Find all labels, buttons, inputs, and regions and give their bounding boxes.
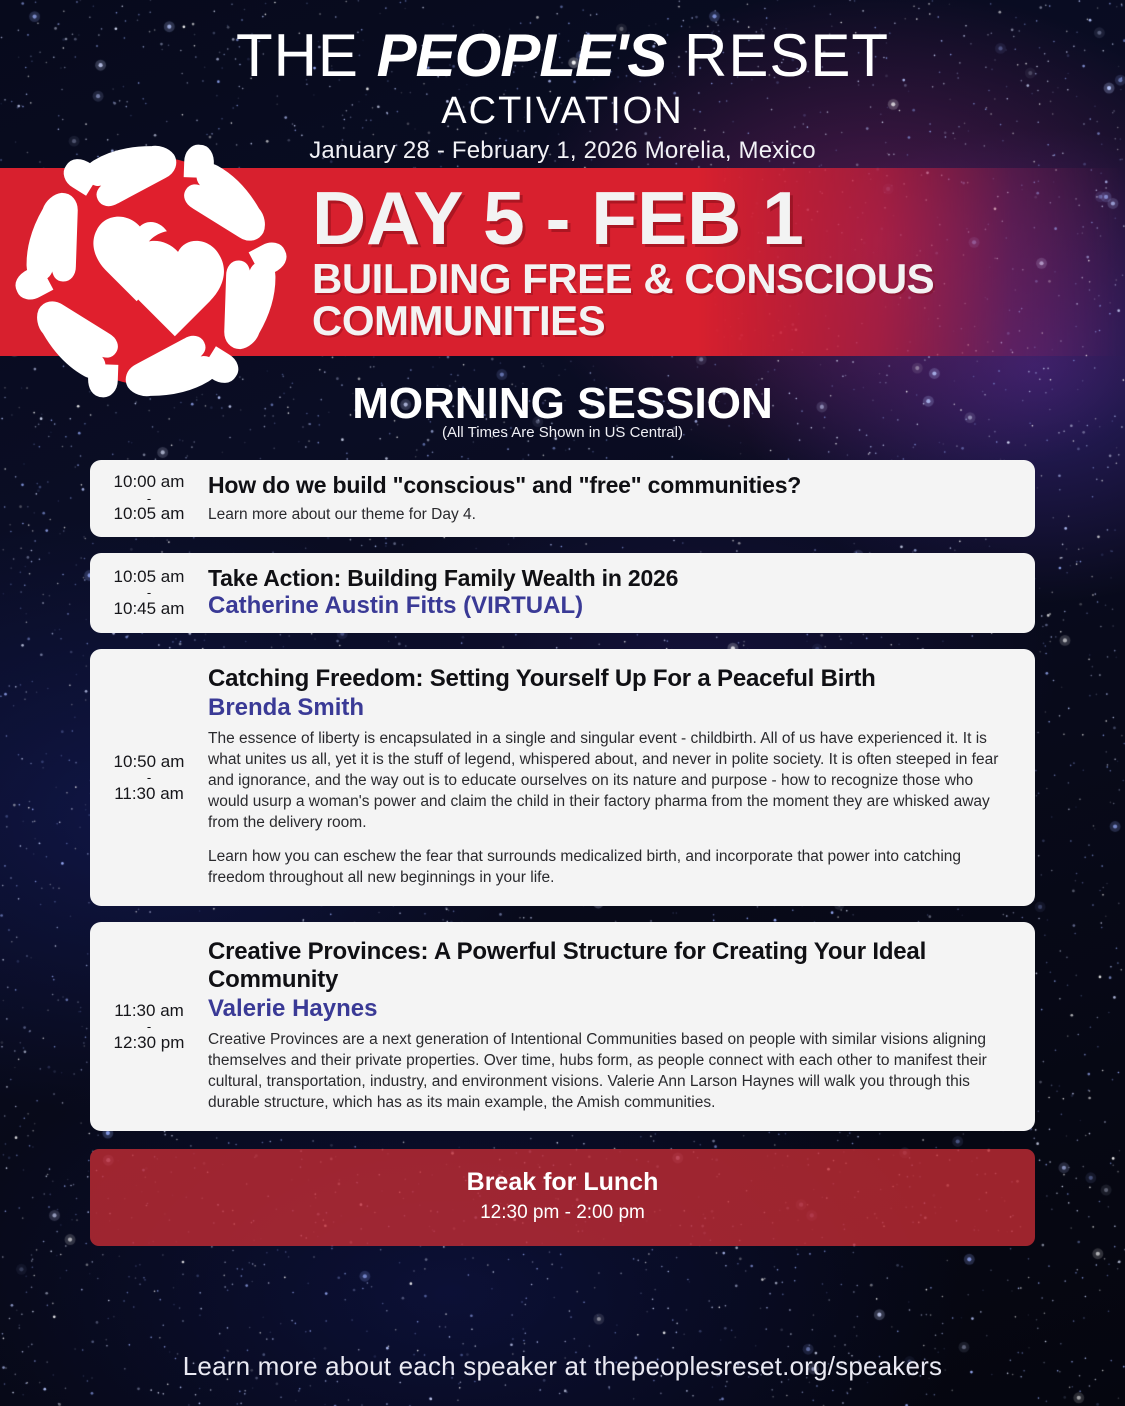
- agenda-time-3: 10:50 am - 11:30 am: [90, 746, 208, 810]
- agenda-end-3: 11:30 am: [114, 784, 184, 803]
- agenda-dash-3: -: [90, 772, 208, 784]
- agenda-item-2[interactable]: 10:05 am - 10:45 am Take Action: Buildin…: [90, 553, 1035, 633]
- agenda-end-2: 10:45 am: [114, 599, 185, 618]
- brand-emphasis: PEOPLE'S: [377, 22, 667, 89]
- agenda-para-3-2: Learn how you can eschew the fear that s…: [208, 846, 1009, 888]
- agenda-item-4[interactable]: 11:30 am - 12:30 pm Creative Provinces: …: [90, 922, 1035, 1131]
- agenda-title-4: Creative Provinces: A Powerful Structure…: [208, 938, 1009, 994]
- agenda-item-1[interactable]: 10:00 am - 10:05 am How do we build "con…: [90, 460, 1035, 537]
- agenda-desc-3: The essence of liberty is encapsulated i…: [208, 728, 1009, 889]
- brand-pre: THE: [236, 22, 377, 89]
- agenda-time-1: 10:00 am - 10:05 am: [90, 466, 208, 530]
- agenda-para-3-1: The essence of liberty is encapsulated i…: [208, 728, 1009, 833]
- agenda-end-4: 12:30 pm: [114, 1033, 185, 1052]
- agenda-title-3: Catching Freedom: Setting Yourself Up Fo…: [208, 665, 1009, 693]
- agenda-start-2: 10:05 am: [114, 567, 185, 586]
- agenda-title-2: Take Action: Building Family Wealth in 2…: [208, 565, 1009, 592]
- agenda-speaker-3: Brenda Smith: [208, 694, 1009, 723]
- peoples-reset-logo: [0, 112, 310, 430]
- agenda-desc-4: Creative Provinces are a next generation…: [208, 1029, 1009, 1113]
- day-banner-text: DAY 5 - FEB 1 BUILDING FREE & CONSCIOUS …: [312, 182, 972, 343]
- day-title: DAY 5 - FEB 1: [312, 182, 972, 256]
- agenda-start-1: 10:00 am: [114, 472, 185, 491]
- agenda-para-1-1: Learn more about our theme for Day 4.: [208, 504, 1009, 525]
- brand-post: RESET: [666, 22, 889, 89]
- agenda-time-4: 11:30 am - 12:30 pm: [90, 995, 208, 1059]
- lunch-title: Break for Lunch: [90, 1169, 1035, 1197]
- agenda-start-3: 10:50 am: [114, 752, 185, 771]
- footer-note: Learn more about each speaker at thepeop…: [0, 1351, 1125, 1382]
- agenda-end-1: 10:05 am: [114, 504, 185, 523]
- agenda-dash-4: -: [90, 1021, 208, 1033]
- agenda-body-1: How do we build "conscious" and "free" c…: [208, 460, 1035, 537]
- agenda-time-2: 10:05 am - 10:45 am: [90, 561, 208, 625]
- agenda-dash-2: -: [90, 587, 208, 599]
- agenda-body-3: Catching Freedom: Setting Yourself Up Fo…: [208, 649, 1035, 906]
- day-subtitle: BUILDING FREE & CONSCIOUS COMMUNITIES: [312, 258, 972, 344]
- agenda-list: 10:00 am - 10:05 am How do we build "con…: [90, 460, 1035, 1246]
- lunch-break-banner: Break for Lunch 12:30 pm - 2:00 pm: [90, 1149, 1035, 1246]
- agenda-start-4: 11:30 am: [114, 1001, 184, 1020]
- agenda-body-2: Take Action: Building Family Wealth in 2…: [208, 553, 1035, 633]
- agenda-speaker-4: Valerie Haynes: [208, 995, 1009, 1024]
- agenda-item-3[interactable]: 10:50 am - 11:30 am Catching Freedom: Se…: [90, 649, 1035, 906]
- agenda-speaker-2: Catherine Austin Fitts (VIRTUAL): [208, 592, 1009, 621]
- agenda-desc-1: Learn more about our theme for Day 4.: [208, 504, 1009, 525]
- agenda-dash-1: -: [90, 493, 208, 505]
- agenda-body-4: Creative Provinces: A Powerful Structure…: [208, 922, 1035, 1131]
- lunch-time: 12:30 pm - 2:00 pm: [90, 1202, 1035, 1224]
- hands-circle-hearts-icon: [0, 112, 310, 430]
- brand-title: THE PEOPLE'S RESET: [0, 26, 1125, 86]
- agenda-para-4-1: Creative Provinces are a next generation…: [208, 1029, 1009, 1113]
- agenda-title-1: How do we build "conscious" and "free" c…: [208, 472, 1009, 499]
